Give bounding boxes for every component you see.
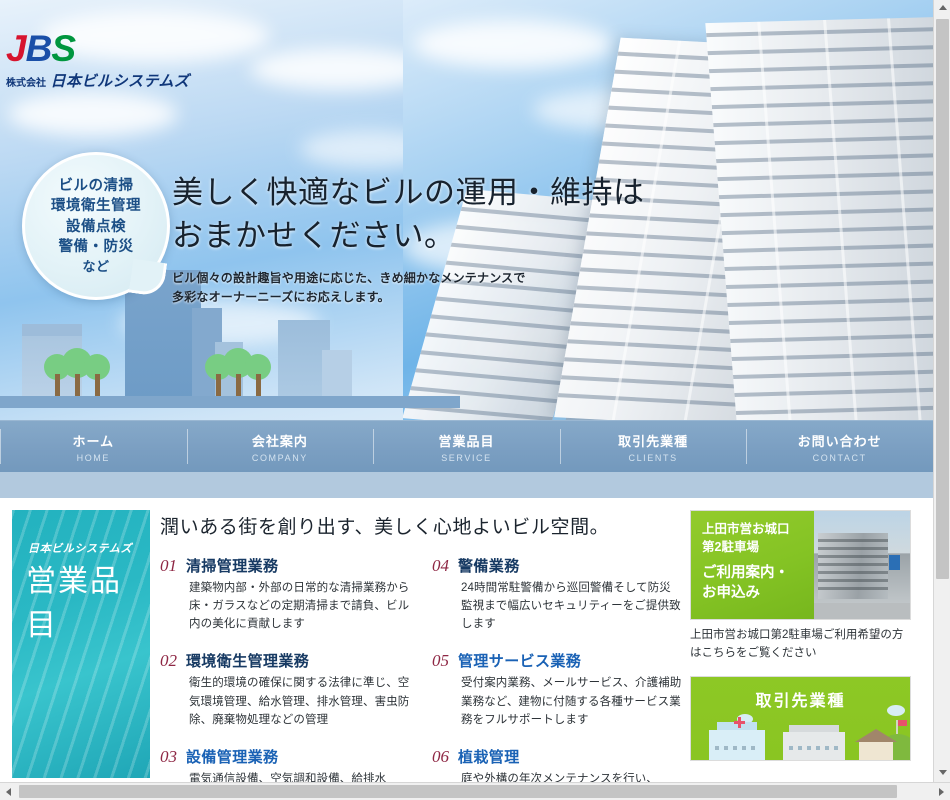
nav-label-jp: ホーム <box>72 431 114 450</box>
nav-label-en: CONTACT <box>813 453 867 463</box>
hero-copy: 美しく快適なビルの運用・維持は おまかせください。 ビル個々の設計趣旨や用途に応… <box>172 172 645 307</box>
sidebar-company-label: 日本ビルシステムズ <box>28 540 132 556</box>
vertical-scrollbar-thumb[interactable] <box>936 19 949 579</box>
service-title: 管理サービス業務 <box>458 650 581 671</box>
hero-sub-line1: ビル個々の設計趣旨や用途に応じた、きめ細かなメンテナンスで <box>172 271 526 285</box>
hero-headline-line1: 美しく快適なビルの運用・維持は <box>172 175 645 210</box>
services-column: 潤いある街を創り出す、美しく心地よいビル空間。 01 清掃管理業務 建築物内部・… <box>150 498 690 782</box>
service-item-05[interactable]: 05 管理サービス業務 受付案内業務、メールサービス、介護補助業務など、建物に付… <box>432 650 682 728</box>
left-sidebar: 日本ビルシステムズ 営業品目 <box>0 498 150 782</box>
nav-underband <box>0 472 933 498</box>
service-description: 電気通信設備、空気調和設備、給排水 <box>189 770 410 782</box>
medical-cross-icon <box>734 717 745 728</box>
site-logo[interactable]: JBS 株式会社 日本ビルシステムズ <box>6 30 190 91</box>
service-description: 庭や外構の年次メンテナンスを行い、 <box>461 770 682 782</box>
parking-cta-line1: ご利用案内・ <box>702 565 789 581</box>
service-number: 04 <box>432 556 449 576</box>
badge-line-5: など <box>82 258 109 276</box>
main-navigation: ホーム HOME 会社案内 COMPANY 営業品目 SERVICE 取引先業種… <box>0 420 933 472</box>
section-title-box: 日本ビルシステムズ 営業品目 <box>12 510 150 778</box>
service-number: 06 <box>432 747 449 767</box>
service-description: 24時間常駐警備から巡回警備そして防災監視まで幅広いセキュリティーをご提供致しま… <box>461 579 682 633</box>
logo-letter-j: J <box>6 28 26 69</box>
nav-item-contact[interactable]: お問い合わせ CONTACT <box>746 421 933 472</box>
horizontal-scrollbar-thumb[interactable] <box>19 785 897 798</box>
nav-label-en: COMPANY <box>252 453 308 463</box>
nav-label-jp: お問い合わせ <box>798 431 882 450</box>
nav-item-clients[interactable]: 取引先業種 CLIENTS <box>560 421 747 472</box>
nav-label-en: CLIENTS <box>628 453 677 463</box>
clients-promo-title: 取引先業種 <box>691 687 910 711</box>
hero-badge: ビルの清掃 環境衛生管理 設備点検 警備・防災 など <box>22 152 170 300</box>
parking-title-line1: 上田市営お城口 <box>702 522 790 536</box>
service-description: 衛生的環境の確保に関する法律に準じ、空気環境管理、給水管理、排水管理、害虫防除、… <box>189 674 410 728</box>
service-title: 警備業務 <box>458 555 520 576</box>
vertical-scrollbar[interactable] <box>933 0 950 782</box>
nav-label-en: SERVICE <box>441 453 492 463</box>
service-title: 清掃管理業務 <box>186 555 278 576</box>
company-name: 日本ビルシステムズ <box>50 73 189 90</box>
parking-promo-banner[interactable]: 上田市営お城口 第2駐車場 ご利用案内・ お申込み <box>690 510 911 620</box>
scroll-up-arrow-icon[interactable] <box>934 0 950 17</box>
page-viewport: JBS 株式会社 日本ビルシステムズ ビルの清掃 環境衛生管理 設備点検 警備・… <box>0 0 933 782</box>
service-description: 建築物内部・外部の日常的な清掃業務から床・ガラスなどの定期清掃まで請負、ビル内の… <box>189 579 410 633</box>
nav-item-service[interactable]: 営業品目 SERVICE <box>373 421 560 472</box>
nav-label-en: HOME <box>77 453 110 463</box>
horizontal-scrollbar[interactable] <box>0 782 950 800</box>
parking-promo-caption: 上田市営お城口第2駐車場ご利用希望の方はこちらをご覧ください <box>690 627 913 663</box>
service-number: 03 <box>160 747 177 767</box>
hero-banner: JBS 株式会社 日本ビルシステムズ ビルの清掃 環境衛生管理 設備点検 警備・… <box>0 0 933 420</box>
service-title: 設備管理業務 <box>186 746 278 767</box>
house-icon <box>859 742 893 760</box>
badge-line-4: 警備・防災 <box>59 237 134 258</box>
hospital-icon <box>709 730 765 760</box>
company-prefix: 株式会社 <box>6 78 46 89</box>
nav-label-jp: 営業品目 <box>438 431 494 450</box>
service-number: 01 <box>160 556 177 576</box>
parking-cta-line2: お申込み <box>702 585 760 601</box>
service-item-01[interactable]: 01 清掃管理業務 建築物内部・外部の日常的な清掃業務から床・ガラスなどの定期清… <box>160 555 410 633</box>
scroll-right-arrow-icon[interactable] <box>933 783 950 800</box>
service-number: 02 <box>160 651 177 671</box>
main-content: 日本ビルシステムズ 営業品目 潤いある街を創り出す、美しく心地よいビル空間。 0… <box>0 498 933 782</box>
services-list-left: 01 清掃管理業務 建築物内部・外部の日常的な清掃業務から床・ガラスなどの定期清… <box>160 555 410 782</box>
nav-label-jp: 会社案内 <box>252 431 308 450</box>
service-title: 環境衛生管理業務 <box>186 650 309 671</box>
logo-letter-b: B <box>26 28 52 69</box>
nav-item-company[interactable]: 会社案内 COMPANY <box>187 421 374 472</box>
badge-line-1: ビルの清掃 <box>59 176 134 197</box>
service-item-04[interactable]: 04 警備業務 24時間常駐警備から巡回警備そして防災監視まで幅広いセキュリティ… <box>432 555 682 633</box>
right-sidebar: 上田市営お城口 第2駐車場 ご利用案内・ お申込み <box>690 498 923 782</box>
service-item-02[interactable]: 02 環境衛生管理業務 衛生的環境の確保に関する法律に準じ、空気環境管理、給水管… <box>160 650 410 728</box>
parking-garage-photo <box>814 511 910 620</box>
service-number: 05 <box>432 651 449 671</box>
service-description: 受付案内業務、メールサービス、介護補助業務など、建物に付随する各種サービス業務を… <box>461 674 682 728</box>
badge-line-2: 環境衛生管理 <box>51 196 141 217</box>
sidebar-section-label: 営業品目 <box>26 556 150 644</box>
parking-title-line2: 第2駐車場 <box>702 540 759 554</box>
nav-label-jp: 取引先業種 <box>618 431 688 450</box>
nav-item-home[interactable]: ホーム HOME <box>0 421 187 472</box>
scroll-left-arrow-icon[interactable] <box>0 783 17 800</box>
hero-headline-line2: おまかせください。 <box>172 218 456 253</box>
scroll-down-arrow-icon[interactable] <box>934 765 950 782</box>
clients-promo-banner[interactable]: 取引先業種 <box>690 676 911 761</box>
service-item-06[interactable]: 06 植栽管理 庭や外構の年次メンテナンスを行い、 <box>432 746 682 782</box>
services-list-right: 04 警備業務 24時間常駐警備から巡回警備そして防災監視まで幅広いセキュリティ… <box>432 555 682 782</box>
service-title: 植栽管理 <box>458 746 520 767</box>
logo-letter-s: S <box>51 28 75 69</box>
hero-sub-line2: 多彩なオーナーニーズにお応えします。 <box>172 290 390 304</box>
section-lead: 潤いある街を創り出す、美しく心地よいビル空間。 <box>160 512 682 539</box>
badge-line-3: 設備点検 <box>66 217 126 238</box>
service-item-03[interactable]: 03 設備管理業務 電気通信設備、空気調和設備、給排水 <box>160 746 410 782</box>
parking-sign-icon <box>889 555 900 570</box>
